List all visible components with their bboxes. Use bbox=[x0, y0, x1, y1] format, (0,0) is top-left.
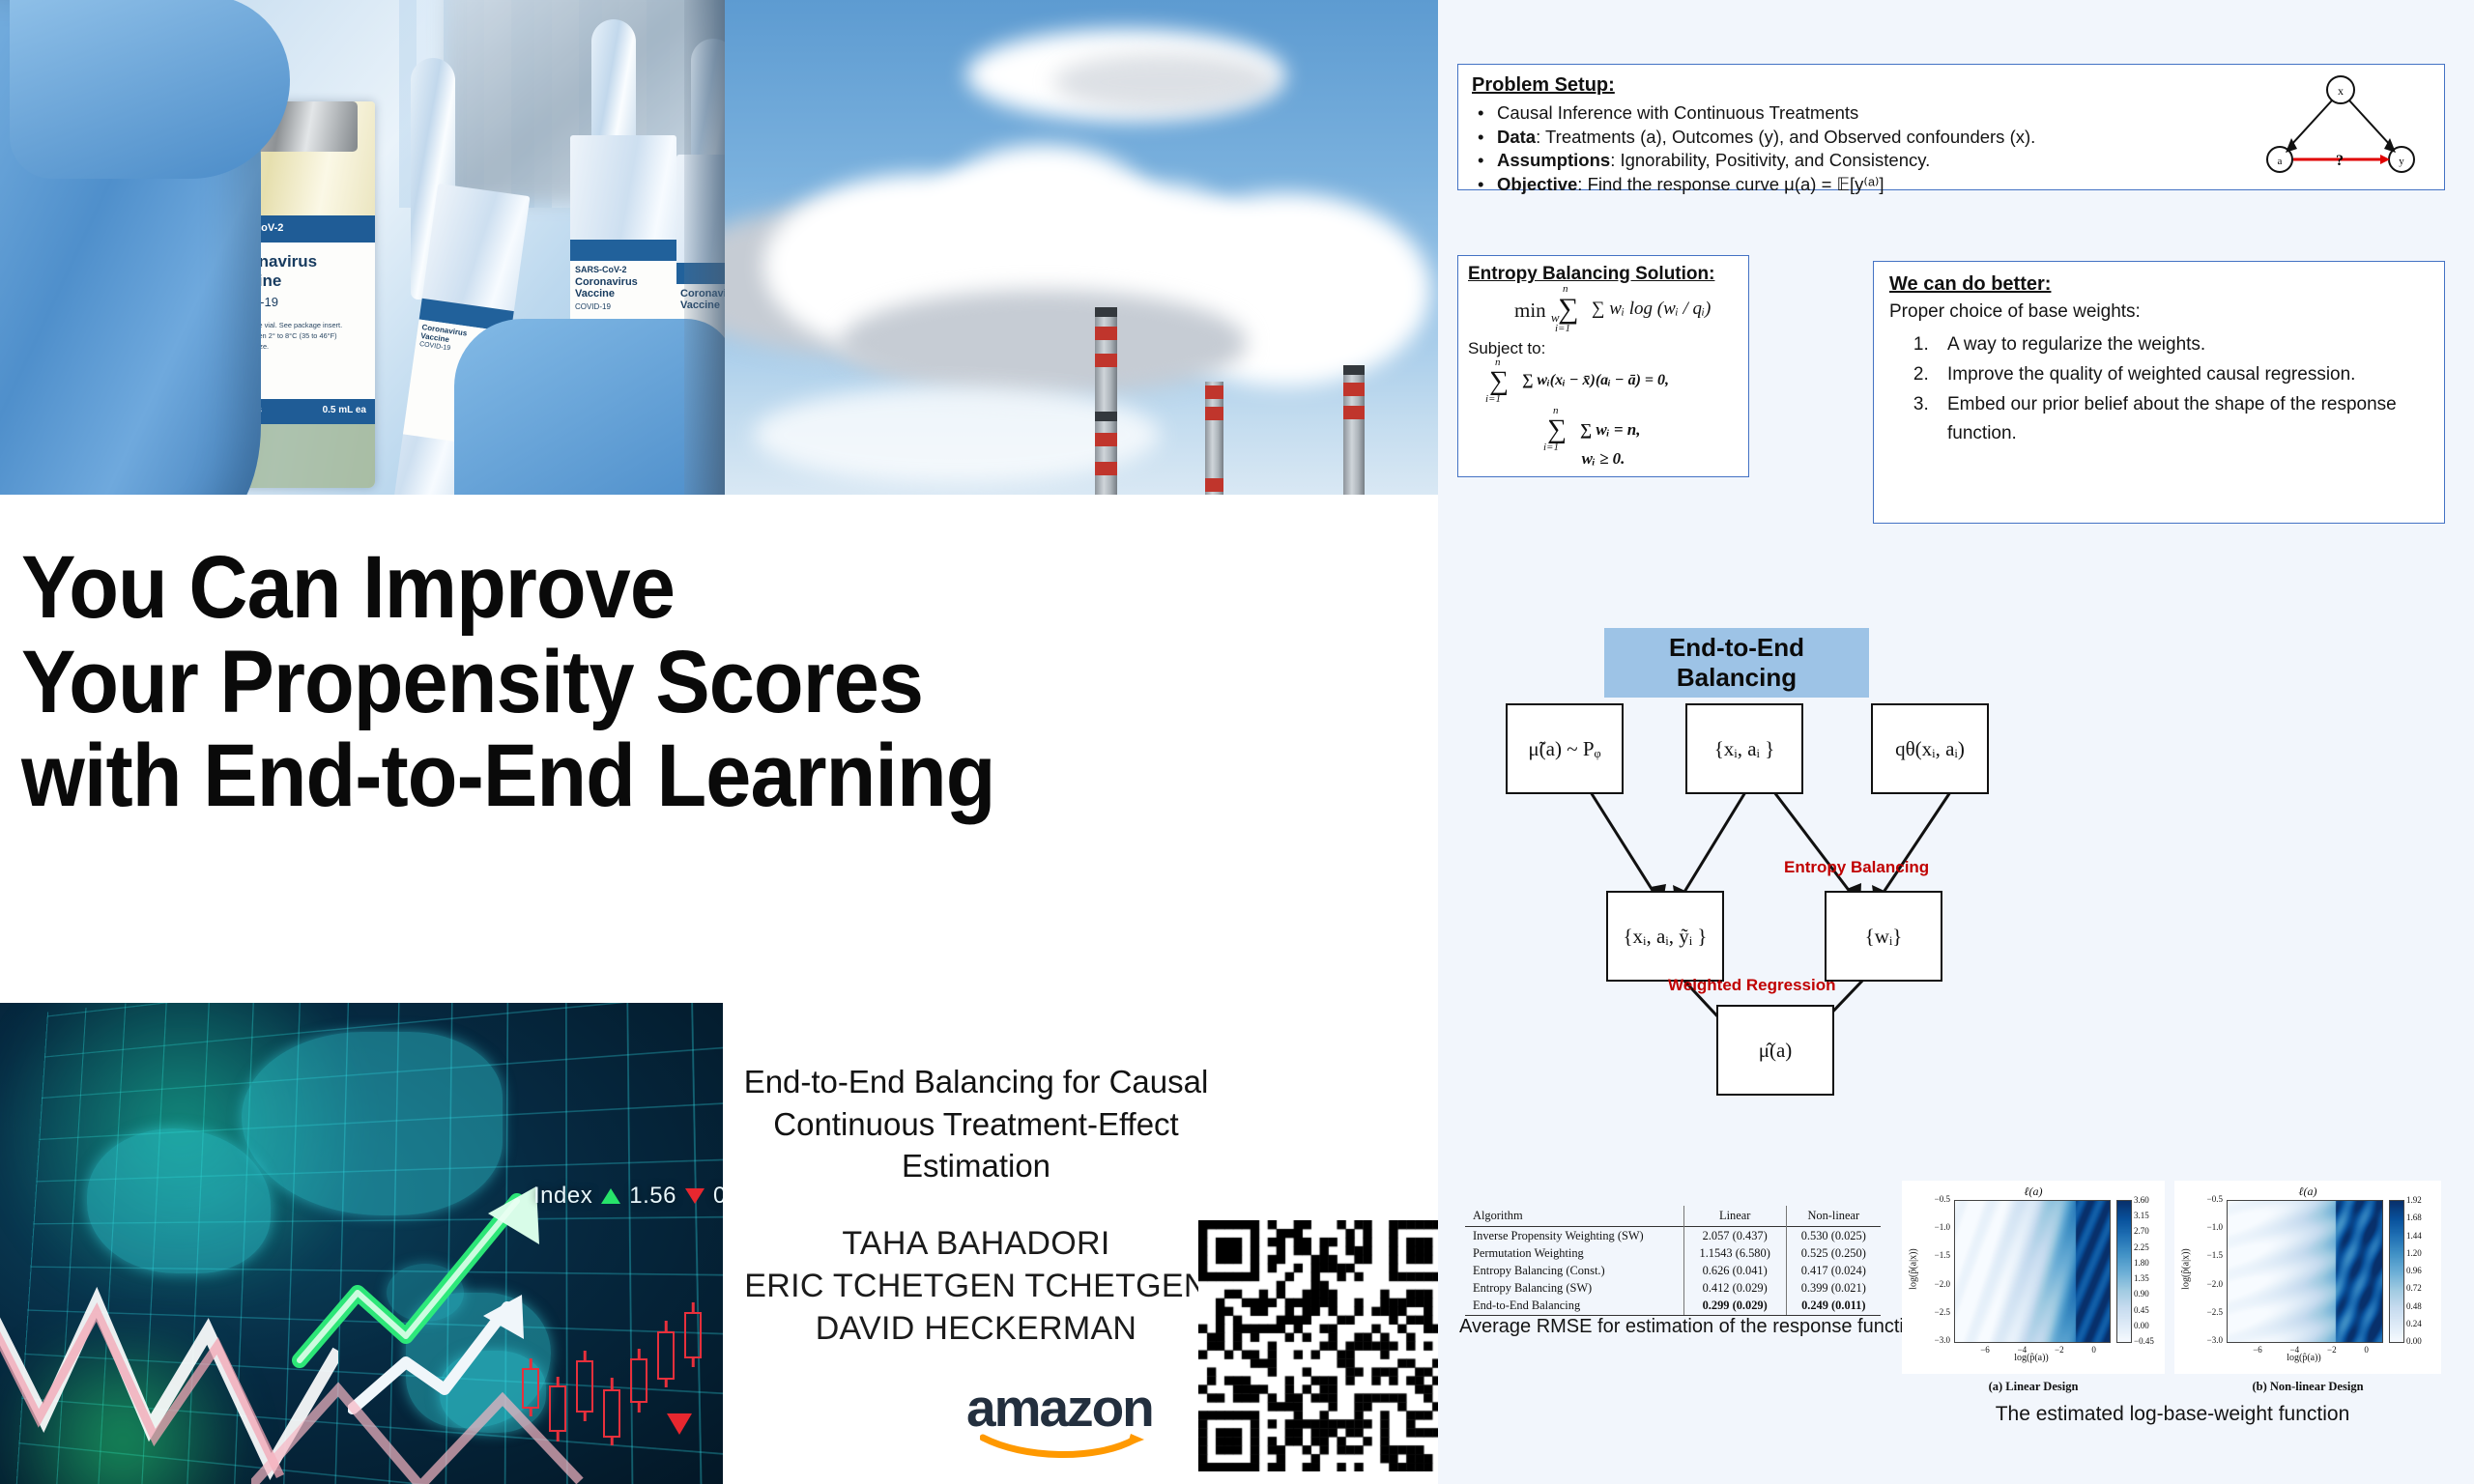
row-5-nonlinear: 0.249 (0.011) bbox=[1786, 1298, 1881, 1316]
candlestick-7 bbox=[684, 1312, 702, 1358]
flow-node-xay: {xᵢ, aᵢ, ỹᵢ } bbox=[1606, 891, 1724, 982]
fig-a-xticks-1: −4 bbox=[2018, 1345, 2028, 1355]
candlestick-6 bbox=[657, 1331, 675, 1380]
fig-a-yticks-0: −0.5 bbox=[1925, 1194, 1950, 1204]
smokestack-3 bbox=[1343, 365, 1365, 495]
cloud-grey-2 bbox=[841, 290, 1247, 396]
fig-a-caption: (a) Linear Design bbox=[1902, 1380, 2165, 1394]
flow-node-1-label: μ̃(a) ~ Pᵩ bbox=[1528, 737, 1600, 761]
results-table-wrapper: Algorithm Linear Non-linear Inverse Prop… bbox=[1465, 1206, 1881, 1316]
fig-b-xticks-1: −4 bbox=[2290, 1345, 2300, 1355]
flow-node-6-label: μ̂(a) bbox=[1759, 1039, 1793, 1063]
right-content-panel: Problem Setup: Causal Inference with Con… bbox=[1438, 0, 2474, 1484]
fig-a-yticks-1: −1.0 bbox=[1925, 1222, 1950, 1232]
col-linear: Linear bbox=[1683, 1206, 1786, 1227]
qr-code[interactable] bbox=[1198, 1220, 1450, 1471]
heatmap-figure-nonlinear: ℓ(a) log(p̂(a)) log(p̂(a|x)) (b) Non-lin… bbox=[2174, 1181, 2441, 1374]
fig-b-ylabel: log(p̂(a|x)) bbox=[2181, 1221, 2192, 1318]
title-line-1: You Can Improve bbox=[21, 541, 1302, 636]
fig-b-colorbar bbox=[2389, 1200, 2404, 1343]
smokestack-2 bbox=[1205, 382, 1223, 495]
we-can-do-better-box: We can do better: Proper choice of base … bbox=[1873, 261, 2445, 524]
candlestick-4 bbox=[603, 1389, 620, 1438]
flow-node-q-theta: qθ(xᵢ, aᵢ) bbox=[1871, 703, 1989, 794]
we-can-do-better-list: A way to regularize the weights. Improve… bbox=[1889, 330, 2429, 449]
fig-b-yticks-3: −2.0 bbox=[2198, 1279, 2223, 1289]
flow-node-mu-tilde: μ̃(a) ~ Pᵩ bbox=[1506, 703, 1624, 794]
fig-b-yticks-1: −1.0 bbox=[2198, 1222, 2223, 1232]
e2e-flow-diagram: μ̃(a) ~ Pᵩ {xᵢ, aᵢ } qθ(xᵢ, aᵢ) {xᵢ, aᵢ,… bbox=[1496, 696, 2172, 1092]
fig-b-xlabel: log(p̂(a)) bbox=[2227, 1353, 2381, 1363]
candlestick-5 bbox=[630, 1358, 647, 1403]
vial-side-2-brand: SARS-CoV-2 bbox=[575, 265, 627, 274]
candlestick-1 bbox=[522, 1368, 539, 1409]
table-row: Permutation Weighting 1.1543 (6.580) 0.5… bbox=[1465, 1244, 1881, 1262]
left-title-panel: Coronavirus Vaccine COVID-19 SARS-CoV-2 … bbox=[0, 0, 1438, 1484]
flow-node-3-label: qθ(xᵢ, aᵢ) bbox=[1895, 737, 1965, 761]
fig-a-cticks-3: 2.25 bbox=[2134, 1242, 2149, 1252]
title-line-3: with End-to-End Learning bbox=[21, 729, 1302, 824]
flow-node-5-label: {wᵢ} bbox=[1865, 925, 1903, 949]
dag-node-y-label: y bbox=[2399, 156, 2404, 167]
heatmap-figure-linear: ℓ(a) log(p̂(a)) log(p̂(a|x)) (a) Linear … bbox=[1902, 1181, 2165, 1374]
index-readout: Index 1.56 0.78 bbox=[533, 1183, 723, 1210]
table-row: Entropy Balancing (SW) 0.412 (0.029) 0.3… bbox=[1465, 1280, 1881, 1298]
fig-b-cticks-6: 0.48 bbox=[2406, 1301, 2422, 1311]
row-2-algorithm: Permutation Weighting bbox=[1465, 1244, 1683, 1262]
results-table: Algorithm Linear Non-linear Inverse Prop… bbox=[1465, 1206, 1881, 1316]
table-header-row: Algorithm Linear Non-linear bbox=[1465, 1206, 1881, 1227]
table-row: Entropy Balancing (Const.) 0.626 (0.041)… bbox=[1465, 1262, 1881, 1279]
better-item-2: Improve the quality of weighted causal r… bbox=[1934, 360, 2429, 390]
row-3-algorithm: Entropy Balancing (Const.) bbox=[1465, 1262, 1683, 1279]
entropy-objective-body: ∑ wᵢ log (wᵢ / qᵢ) bbox=[1592, 299, 1711, 320]
gloved-thumb bbox=[10, 0, 290, 179]
dag-node-a-label: a bbox=[2278, 156, 2283, 167]
smokestack-photo bbox=[725, 0, 1438, 495]
author-3: DAVID HECKERMAN bbox=[734, 1307, 1218, 1350]
subtitle: End-to-End Balancing for Causal Continuo… bbox=[734, 1061, 1218, 1187]
author-list: TAHA BAHADORI ERIC TCHETGEN TCHETGEN DAV… bbox=[734, 1222, 1218, 1351]
bullet-3-text: : Ignorability, Positivity, and Consiste… bbox=[1610, 150, 1930, 170]
fig-b-xticks-0: −6 bbox=[2253, 1345, 2262, 1355]
causal-dag-diagram: x a y ? bbox=[2258, 72, 2423, 185]
row-2-nonlinear: 0.525 (0.250) bbox=[1786, 1244, 1881, 1262]
vial-side-2-name2: Vaccine bbox=[575, 288, 615, 300]
triangle-down-icon-large bbox=[667, 1413, 692, 1435]
bullet-4-text: : Find the response curve μ(a) = 𝔼[y⁽ᵃ⁾] bbox=[1577, 174, 1884, 194]
entropy-sum-lower: i=1 bbox=[1555, 323, 1570, 334]
fig-a-xlabel: log(p̂(a)) bbox=[1954, 1353, 2109, 1363]
row-3-linear: 0.626 (0.041) bbox=[1683, 1262, 1786, 1279]
col-nonlinear: Non-linear bbox=[1786, 1206, 1881, 1227]
fig-b-yticks-4: −2.5 bbox=[2198, 1307, 2223, 1317]
cloud-grey-top bbox=[1053, 53, 1276, 111]
bullet-4-label: Objective bbox=[1497, 174, 1577, 194]
fig-a-yticks-4: −2.5 bbox=[1925, 1307, 1950, 1317]
candlestick-2 bbox=[549, 1385, 566, 1432]
fig-b-cticks-8: 0.00 bbox=[2406, 1336, 2422, 1346]
we-can-do-better-heading: We can do better: bbox=[1889, 273, 2429, 296]
author-1: TAHA BAHADORI bbox=[734, 1222, 1218, 1265]
fig-a-cticks-7: 0.45 bbox=[2134, 1305, 2149, 1315]
fig-b-caption: (b) Non-linear Design bbox=[2174, 1380, 2441, 1394]
flow-node-mu-hat: μ̂(a) bbox=[1716, 1005, 1834, 1096]
fig-a-plot-area bbox=[1954, 1200, 2111, 1343]
flow-node-4-label: {xᵢ, aᵢ, ỹᵢ } bbox=[1623, 925, 1707, 949]
entropy-constraint-2: ∑ wᵢ = n, bbox=[1580, 420, 1640, 440]
row-5-algorithm: End-to-End Balancing bbox=[1465, 1298, 1683, 1316]
c2-sum-lower: i=1 bbox=[1543, 442, 1559, 453]
flow-label-weighted-regression: Weighted Regression bbox=[1668, 976, 1836, 995]
fig-b-cticks-7: 0.24 bbox=[2406, 1319, 2422, 1328]
fig-b-cticks-5: 0.72 bbox=[2406, 1283, 2422, 1293]
amazon-logo: amazon bbox=[966, 1382, 1169, 1457]
problem-setup-box: Problem Setup: Causal Inference with Con… bbox=[1457, 64, 2445, 190]
vial-side-2-name: Coronavirus bbox=[575, 276, 638, 288]
fig-a-yticks-5: −3.0 bbox=[1925, 1335, 1950, 1345]
figures-main-caption: The estimated log-base-weight function bbox=[1902, 1403, 2443, 1426]
fig-a-cticks-8: 0.00 bbox=[2134, 1321, 2149, 1330]
bullet-2-text: : Treatments (a), Outcomes (y), and Obse… bbox=[1536, 127, 2035, 147]
title-line-2: Your Propensity Scores bbox=[21, 636, 1302, 730]
flow-node-2-label: {xᵢ, aᵢ } bbox=[1714, 737, 1775, 761]
candlestick-3 bbox=[576, 1360, 593, 1413]
col-algorithm: Algorithm bbox=[1465, 1206, 1683, 1227]
row-5-linear: 0.299 (0.029) bbox=[1683, 1298, 1786, 1316]
fig-b-xticks-3: 0 bbox=[2364, 1345, 2369, 1355]
fig-a-cticks-2: 2.70 bbox=[2134, 1226, 2149, 1236]
entropy-min-op: min bbox=[1514, 299, 1546, 322]
fig-b-cticks-0: 1.92 bbox=[2406, 1195, 2422, 1205]
row-1-linear: 2.057 (0.437) bbox=[1683, 1227, 1786, 1245]
vaccine-photo: Coronavirus Vaccine COVID-19 SARS-CoV-2 … bbox=[0, 0, 725, 495]
fig-b-cticks-3: 1.20 bbox=[2406, 1248, 2422, 1258]
triangle-up-icon bbox=[601, 1188, 620, 1204]
bullet-1-text: Causal Inference with Continuous Treatme… bbox=[1497, 102, 1858, 123]
fig-a-xticks-2: −2 bbox=[2055, 1345, 2064, 1355]
stock-market-photo: Index 1.56 0.78 bbox=[0, 1003, 723, 1484]
dag-node-x-label: x bbox=[2338, 84, 2344, 98]
row-3-nonlinear: 0.417 (0.024) bbox=[1786, 1262, 1881, 1279]
bullet-2-label: Data bbox=[1497, 127, 1536, 147]
fig-a-cticks-9: −0.45 bbox=[2134, 1336, 2154, 1346]
entropy-constraint-1: ∑ wᵢ(xᵢ − x̄)(aᵢ − ā) = 0, bbox=[1522, 372, 1669, 389]
better-item-1: A way to regularize the weights. bbox=[1934, 330, 2429, 360]
row-4-linear: 0.412 (0.029) bbox=[1683, 1280, 1786, 1298]
vaccine-photo-edge-shadow bbox=[684, 0, 725, 495]
c1-sum-lower: i=1 bbox=[1485, 393, 1501, 405]
vial-volume: 0.5 mL ea bbox=[323, 405, 366, 415]
fig-b-yticks-0: −0.5 bbox=[2198, 1194, 2223, 1204]
better-item-3: Embed our prior belief about the shape o… bbox=[1934, 390, 2429, 450]
row-4-algorithm: Entropy Balancing (SW) bbox=[1465, 1280, 1683, 1298]
e2e-balancing-title: End-to-End Balancing bbox=[1604, 628, 1869, 698]
bullet-3-label: Assumptions bbox=[1497, 150, 1610, 170]
flow-label-entropy-balancing: Entropy Balancing bbox=[1784, 858, 1929, 877]
table-row: End-to-End Balancing 0.299 (0.029) 0.249… bbox=[1465, 1298, 1881, 1316]
author-2: ERIC TCHETGEN TCHETGEN bbox=[734, 1265, 1218, 1307]
fig-a-colorbar bbox=[2116, 1200, 2132, 1343]
fig-a-xticks-3: 0 bbox=[2091, 1345, 2096, 1355]
row-2-linear: 1.1543 (6.580) bbox=[1683, 1244, 1786, 1262]
fig-a-cticks-1: 3.15 bbox=[2134, 1211, 2149, 1220]
smokestack-1 bbox=[1095, 307, 1117, 495]
fig-a-yticks-3: −2.0 bbox=[1925, 1279, 1950, 1289]
table-row: Inverse Propensity Weighting (SW) 2.057 … bbox=[1465, 1227, 1881, 1245]
entropy-subject-to: Subject to: bbox=[1468, 339, 1739, 358]
entropy-balancing-heading: Entropy Balancing Solution: bbox=[1468, 264, 1739, 285]
fig-a-cticks-4: 1.80 bbox=[2134, 1258, 2149, 1268]
flow-node-xa: {xᵢ, aᵢ } bbox=[1685, 703, 1803, 794]
fig-b-yticks-2: −1.5 bbox=[2198, 1250, 2223, 1260]
index-down-value: 0.78 bbox=[713, 1183, 723, 1210]
fig-a-cticks-0: 3.60 bbox=[2134, 1195, 2149, 1205]
dag-edge-label: ? bbox=[2336, 153, 2344, 169]
fig-b-cticks-4: 0.96 bbox=[2406, 1266, 2422, 1275]
fig-a-cticks-6: 0.90 bbox=[2134, 1289, 2149, 1298]
row-4-nonlinear: 0.399 (0.021) bbox=[1786, 1280, 1881, 1298]
fig-a-xticks-0: −6 bbox=[1980, 1345, 1990, 1355]
index-up-value: 1.56 bbox=[629, 1183, 676, 1210]
results-table-caption: Average RMSE for estimation of the respo… bbox=[1459, 1316, 1941, 1338]
flow-node-weights: {wᵢ} bbox=[1825, 891, 1942, 982]
fig-b-plot-area bbox=[2227, 1200, 2383, 1343]
fig-a-yticks-2: −1.5 bbox=[1925, 1250, 1950, 1260]
fig-a-cticks-5: 1.35 bbox=[2134, 1273, 2149, 1283]
amazon-smile-icon bbox=[980, 1432, 1154, 1461]
fig-a-ylabel: log(p̂(a|x)) bbox=[1909, 1221, 1919, 1318]
row-1-nonlinear: 0.530 (0.025) bbox=[1786, 1227, 1881, 1245]
row-1-algorithm: Inverse Propensity Weighting (SW) bbox=[1465, 1227, 1683, 1245]
we-can-do-better-lead: Proper choice of base weights: bbox=[1889, 301, 2429, 323]
fig-b-cticks-1: 1.68 bbox=[2406, 1213, 2422, 1222]
amazon-wordmark: amazon bbox=[966, 1382, 1169, 1435]
fig-b-yticks-5: −3.0 bbox=[2198, 1335, 2223, 1345]
page-title: You Can Improve Your Propensity Scores w… bbox=[21, 541, 1413, 824]
fig-b-xticks-2: −2 bbox=[2327, 1345, 2337, 1355]
index-label: Index bbox=[533, 1183, 592, 1210]
triangle-down-icon bbox=[685, 1188, 705, 1204]
fig-b-cticks-2: 1.44 bbox=[2406, 1231, 2422, 1241]
vial-side-2-disease: COVID-19 bbox=[570, 301, 676, 312]
entropy-balancing-box: Entropy Balancing Solution: min w n ∑ i=… bbox=[1457, 255, 1749, 477]
